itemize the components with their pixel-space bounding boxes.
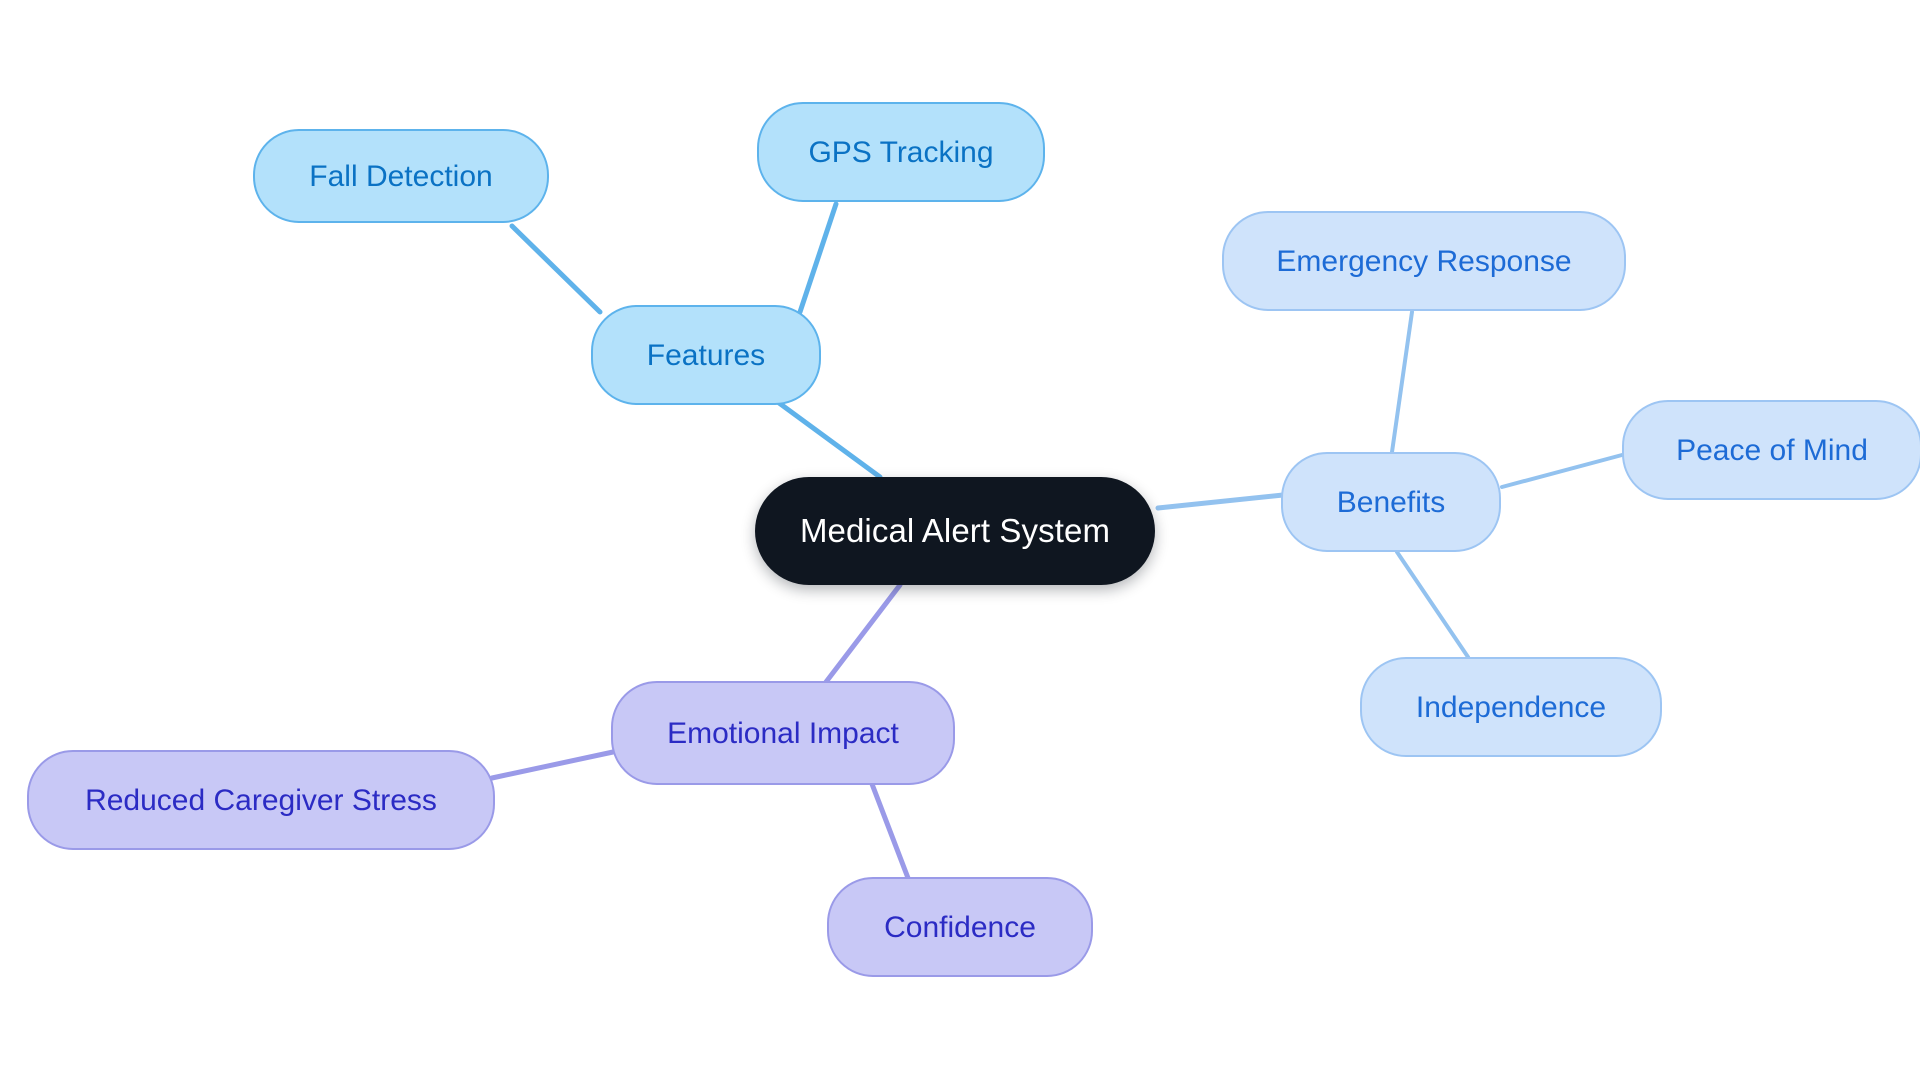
node-peace-of-mind[interactable]: Peace of Mind — [1622, 400, 1920, 500]
edge-benefits-to-independence — [1397, 552, 1468, 657]
node-label: Independence — [1416, 691, 1606, 724]
edge-features-to-gps_tracking — [800, 204, 836, 312]
node-emotional-impact[interactable]: Emotional Impact — [611, 681, 955, 785]
node-label: Peace of Mind — [1676, 434, 1868, 467]
node-benefits[interactable]: Benefits — [1281, 452, 1501, 552]
edge-emotional_impact-to-reduced_caregiver_stress — [492, 752, 613, 778]
node-label: Confidence — [884, 911, 1036, 944]
node-label: Emotional Impact — [667, 717, 899, 750]
edge-emotional_impact-to-confidence — [872, 784, 908, 878]
edge-benefits-to-emergency_response — [1392, 312, 1412, 452]
node-confidence[interactable]: Confidence — [827, 877, 1093, 977]
node-label: Features — [647, 339, 765, 372]
edge-benefits-to-peace_of_mind — [1502, 455, 1622, 487]
node-gps-tracking[interactable]: GPS Tracking — [757, 102, 1045, 202]
node-label: Reduced Caregiver Stress — [85, 784, 437, 817]
node-label: GPS Tracking — [808, 136, 993, 169]
node-label: Fall Detection — [309, 160, 492, 193]
mindmap-canvas: Fall Detection GPS Tracking Features Eme… — [0, 0, 1920, 1083]
node-label: Benefits — [1337, 486, 1445, 519]
edge-root-to-benefits — [1158, 495, 1283, 508]
edge-root-to-emotional_impact — [826, 585, 900, 682]
node-features[interactable]: Features — [591, 305, 821, 405]
edge-features-to-fall_detection — [512, 226, 600, 312]
node-label: Medical Alert System — [800, 513, 1110, 549]
node-label: Emergency Response — [1276, 245, 1571, 278]
node-root-medical-alert-system[interactable]: Medical Alert System — [755, 477, 1155, 585]
edge-root-to-features — [775, 400, 880, 477]
node-independence[interactable]: Independence — [1360, 657, 1662, 757]
node-reduced-caregiver-stress[interactable]: Reduced Caregiver Stress — [27, 750, 495, 850]
node-fall-detection[interactable]: Fall Detection — [253, 129, 549, 223]
node-emergency-response[interactable]: Emergency Response — [1222, 211, 1626, 311]
